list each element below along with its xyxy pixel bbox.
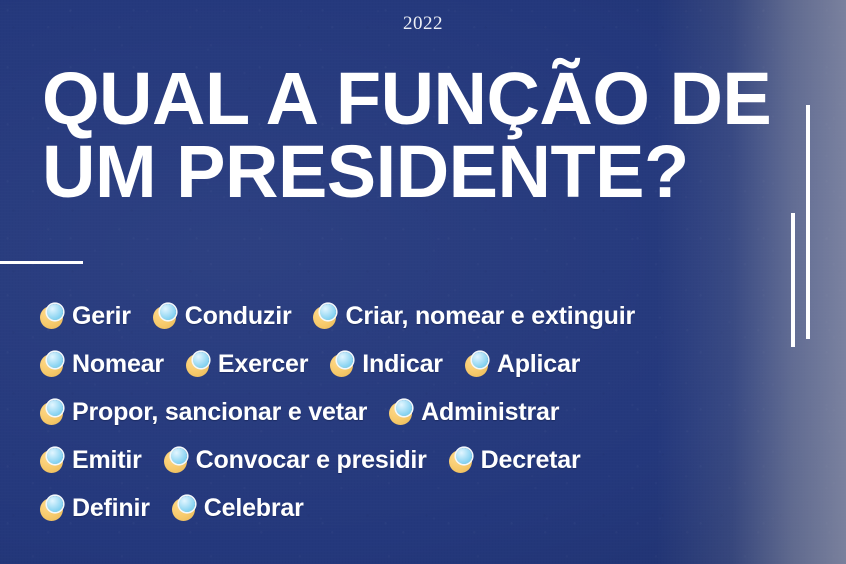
list-item-label: Indicar: [362, 352, 443, 377]
yellow-blue-circle-icon: [40, 304, 65, 329]
page-title-line-2: UM PRESIDENTE?: [42, 135, 782, 208]
list-item-label: Exercer: [218, 352, 308, 377]
list-item-label: Conduzir: [185, 304, 292, 329]
list-item-label: Decretar: [481, 448, 581, 473]
yellow-blue-circle-icon: [172, 496, 197, 521]
yellow-blue-circle-icon: [40, 352, 65, 377]
list-item-label: Convocar e presidir: [196, 448, 427, 473]
list-item-label: Nomear: [72, 352, 164, 377]
list-row: Propor, sancionar e vetar Administrar: [40, 388, 780, 436]
yellow-blue-circle-icon: [164, 448, 189, 473]
yellow-blue-circle-icon: [330, 352, 355, 377]
list-item-label: Celebrar: [204, 496, 304, 521]
list-item-label: Gerir: [72, 304, 131, 329]
list-item: Emitir: [40, 448, 142, 473]
yellow-blue-circle-icon: [40, 448, 65, 473]
list-item: Convocar e presidir: [164, 448, 427, 473]
list-row: Gerir Conduzir Criar, nomear e extinguir: [40, 292, 780, 340]
list-item: Nomear: [40, 352, 164, 377]
list-row: Nomear Exercer Indicar Aplicar: [40, 340, 780, 388]
list-item-label: Criar, nomear e extinguir: [345, 304, 635, 329]
yellow-blue-circle-icon: [40, 496, 65, 521]
list-row: Emitir Convocar e presidir Decretar: [40, 436, 780, 484]
list-item: Administrar: [389, 400, 559, 425]
yellow-blue-circle-icon: [153, 304, 178, 329]
list-item: Aplicar: [465, 352, 580, 377]
list-item-label: Aplicar: [497, 352, 580, 377]
left-divider-line: [0, 261, 83, 264]
right-vertical-line-inner: [791, 213, 795, 347]
list-item-label: Definir: [72, 496, 150, 521]
list-item-label: Emitir: [72, 448, 142, 473]
list-item: Decretar: [449, 448, 581, 473]
yellow-blue-circle-icon: [465, 352, 490, 377]
list-item: Propor, sancionar e vetar: [40, 400, 367, 425]
list-item-label: Propor, sancionar e vetar: [72, 400, 367, 425]
list-item: Celebrar: [172, 496, 304, 521]
yellow-blue-circle-icon: [389, 400, 414, 425]
poster-canvas: 2022 QUAL A FUNÇÃO DE UM PRESIDENTE? Ger…: [0, 0, 846, 564]
list-item: Gerir: [40, 304, 131, 329]
list-row: Definir Celebrar: [40, 484, 780, 532]
list-item-label: Administrar: [421, 400, 559, 425]
list-item: Definir: [40, 496, 150, 521]
page-title-line-1: QUAL A FUNÇÃO DE: [42, 62, 782, 135]
yellow-blue-circle-icon: [313, 304, 338, 329]
list-item: Indicar: [330, 352, 443, 377]
list-item: Exercer: [186, 352, 308, 377]
list-item: Conduzir: [153, 304, 292, 329]
yellow-blue-circle-icon: [449, 448, 474, 473]
yellow-blue-circle-icon: [186, 352, 211, 377]
list-item: Criar, nomear e extinguir: [313, 304, 635, 329]
functions-list: Gerir Conduzir Criar, nomear e extinguir: [40, 292, 780, 532]
page-title: QUAL A FUNÇÃO DE UM PRESIDENTE?: [42, 62, 782, 209]
right-vertical-line-outer: [806, 105, 810, 339]
year-label: 2022: [0, 13, 846, 35]
yellow-blue-circle-icon: [40, 400, 65, 425]
